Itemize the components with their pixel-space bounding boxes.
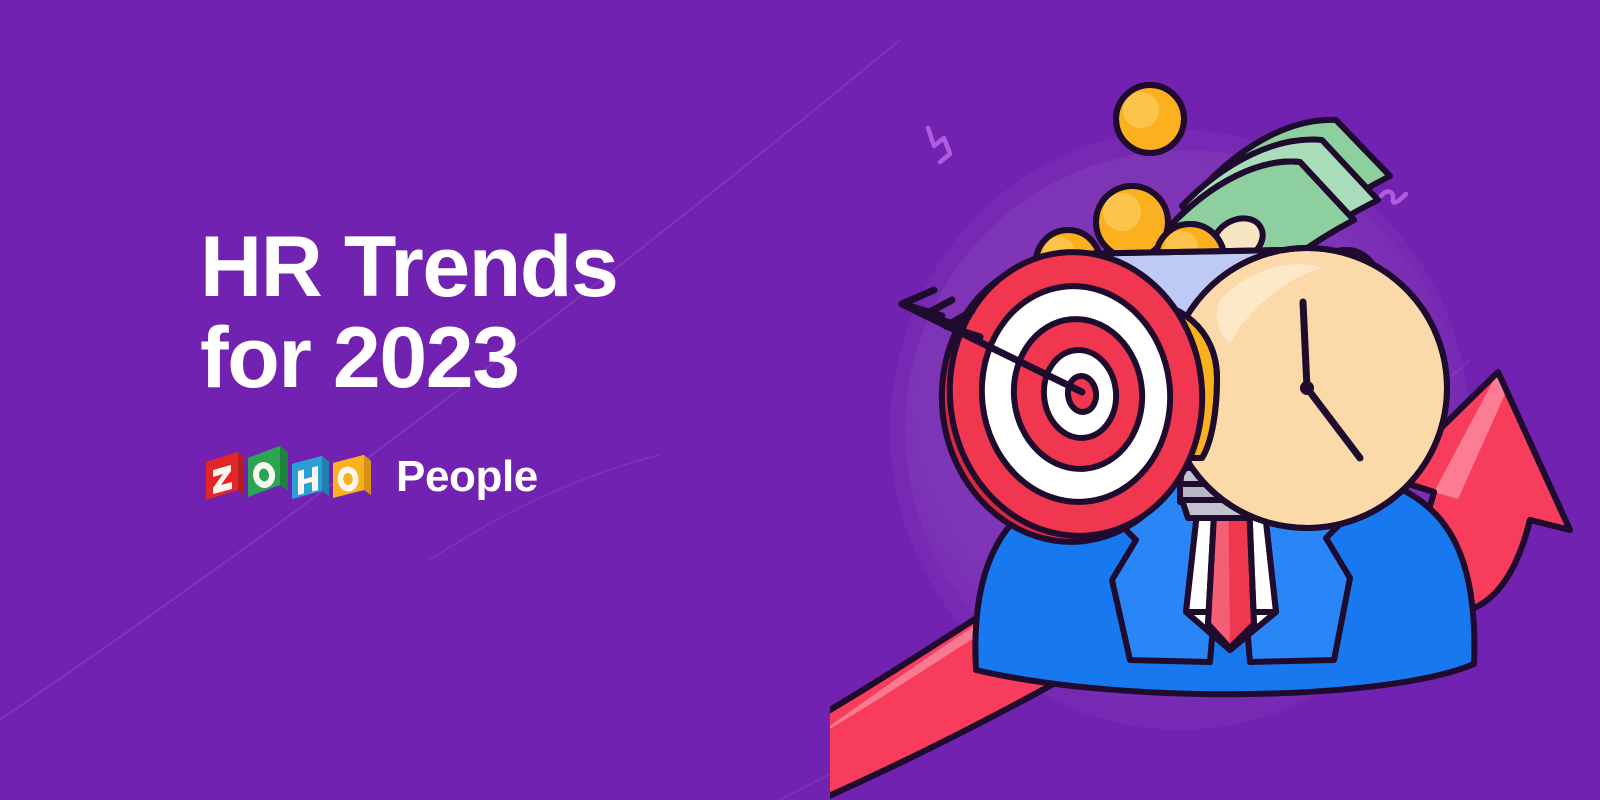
zoho-people-logo[interactable]: People xyxy=(200,446,840,506)
zoho-letter-h-block xyxy=(292,456,329,499)
copy-block: HR Trends for 2023 xyxy=(200,222,840,506)
hr-trends-banner: HR Trends for 2023 xyxy=(0,0,1600,800)
page-title: HR Trends for 2023 xyxy=(200,222,840,404)
zoho-letter-o2-block xyxy=(333,455,371,498)
zoho-letter-z-block xyxy=(206,452,244,500)
zoho-letter-o1-block xyxy=(248,446,288,497)
product-name-label: People xyxy=(396,455,538,499)
zoho-logo-icon xyxy=(200,446,380,506)
hero-illustration xyxy=(830,0,1600,800)
